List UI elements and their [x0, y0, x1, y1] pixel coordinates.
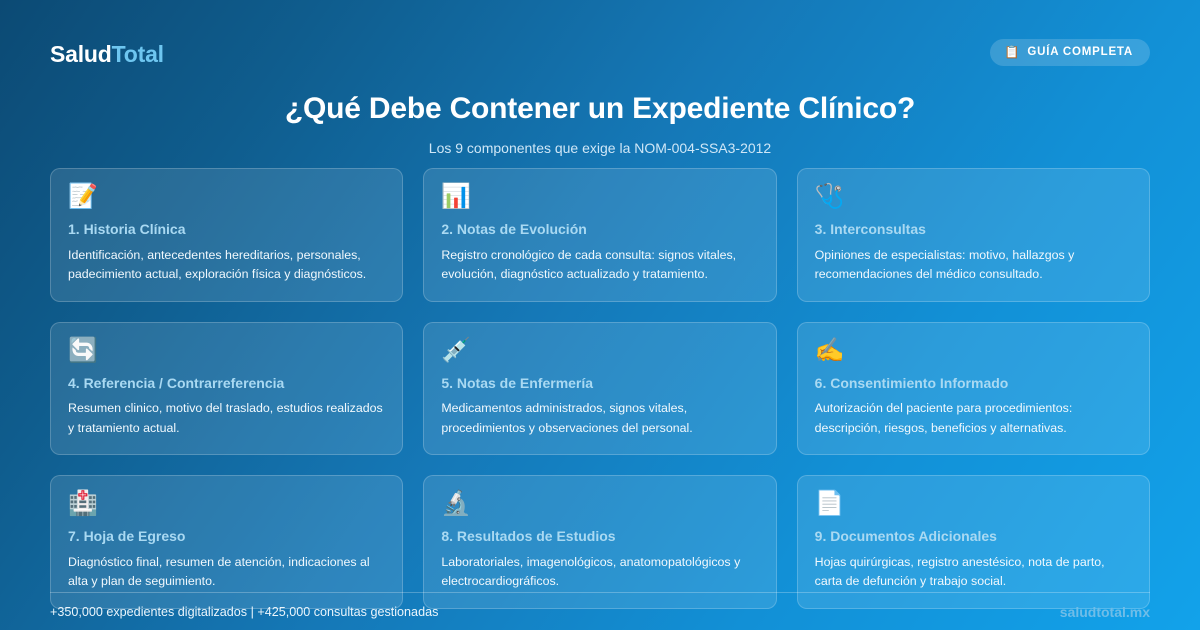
page-document-icon: 📄 [815, 492, 1131, 522]
component-card-4[interactable]: 🔄 4. Referencia / Contrarreferencia Resu… [50, 322, 403, 456]
hospital-icon: 🏥 [68, 492, 384, 522]
stethoscope-icon: 🩺 [815, 185, 1131, 215]
component-card-description: Hojas quirúrgicas, registro anestésico, … [815, 553, 1131, 592]
top-bar: SaludTotal 📋 GUÍA COMPLETA [0, 0, 1200, 90]
component-card-2[interactable]: 📊 2. Notas de Evolución Registro cronoló… [423, 168, 776, 302]
component-card-description: Laboratoriales, imagenológicos, anatomop… [441, 553, 757, 592]
bar-chart-icon: 📊 [441, 185, 757, 215]
component-card-title: 7. Hoja de Egreso [68, 528, 384, 546]
brand-logo[interactable]: SaludTotal [50, 41, 164, 68]
component-card-6[interactable]: ✍️ 6. Consentimiento Informado Autorizac… [797, 322, 1150, 456]
footer-website[interactable]: saludtotal.mx [1060, 604, 1150, 620]
writing-hand-icon: ✍️ [815, 339, 1131, 369]
component-card-title: 8. Resultados de Estudios [441, 528, 757, 546]
component-card-title: 6. Consentimiento Informado [815, 375, 1131, 393]
guia-completa-badge-label: GUÍA COMPLETA [1027, 46, 1133, 58]
components-grid: 📝 1. Historia Clínica Identificación, an… [50, 168, 1150, 609]
component-card-9[interactable]: 📄 9. Documentos Adicionales Hojas quirúr… [797, 475, 1150, 609]
component-card-title: 1. Historia Clínica [68, 221, 384, 239]
component-card-description: Identificación, antecedentes hereditario… [68, 246, 384, 285]
footer-bar: +350,000 expedientes digitalizados | +42… [50, 592, 1150, 630]
guia-completa-badge[interactable]: 📋 GUÍA COMPLETA [990, 39, 1150, 66]
microscope-icon: 🔬 [441, 492, 757, 522]
component-card-title: 2. Notas de Evolución [441, 221, 757, 239]
refresh-arrows-icon: 🔄 [68, 339, 384, 369]
brand-logo-secondary: Total [112, 41, 164, 67]
component-card-description: Opiniones de especialistas: motivo, hall… [815, 246, 1131, 285]
component-card-1[interactable]: 📝 1. Historia Clínica Identificación, an… [50, 168, 403, 302]
component-card-8[interactable]: 🔬 8. Resultados de Estudios Laboratorial… [423, 475, 776, 609]
component-card-7[interactable]: 🏥 7. Hoja de Egreso Diagnóstico final, r… [50, 475, 403, 609]
page-title: ¿Qué Debe Contener un Expediente Clínico… [0, 92, 1200, 126]
syringe-icon: 💉 [441, 339, 757, 369]
footer-stats: +350,000 expedientes digitalizados | +42… [50, 605, 438, 619]
component-card-description: Resumen clinico, motivo del traslado, es… [68, 399, 384, 438]
clipboard-icon: 📋 [1004, 46, 1020, 59]
brand-logo-primary: Salud [50, 41, 112, 67]
page-subtitle: Los 9 componentes que exige la NOM-004-S… [0, 140, 1200, 156]
component-card-3[interactable]: 🩺 3. Interconsultas Opiniones de especia… [797, 168, 1150, 302]
component-card-title: 4. Referencia / Contrarreferencia [68, 375, 384, 393]
component-card-description: Diagnóstico final, resumen de atención, … [68, 553, 384, 592]
component-card-title: 5. Notas de Enfermería [441, 375, 757, 393]
component-card-description: Registro cronológico de cada consulta: s… [441, 246, 757, 285]
component-card-title: 9. Documentos Adicionales [815, 528, 1131, 546]
memo-icon: 📝 [68, 185, 384, 215]
component-card-5[interactable]: 💉 5. Notas de Enfermería Medicamentos ad… [423, 322, 776, 456]
component-card-title: 3. Interconsultas [815, 221, 1131, 239]
hero-section: ¿Qué Debe Contener un Expediente Clínico… [0, 92, 1200, 156]
component-card-description: Autorización del paciente para procedimi… [815, 399, 1131, 438]
component-card-description: Medicamentos administrados, signos vital… [441, 399, 757, 438]
